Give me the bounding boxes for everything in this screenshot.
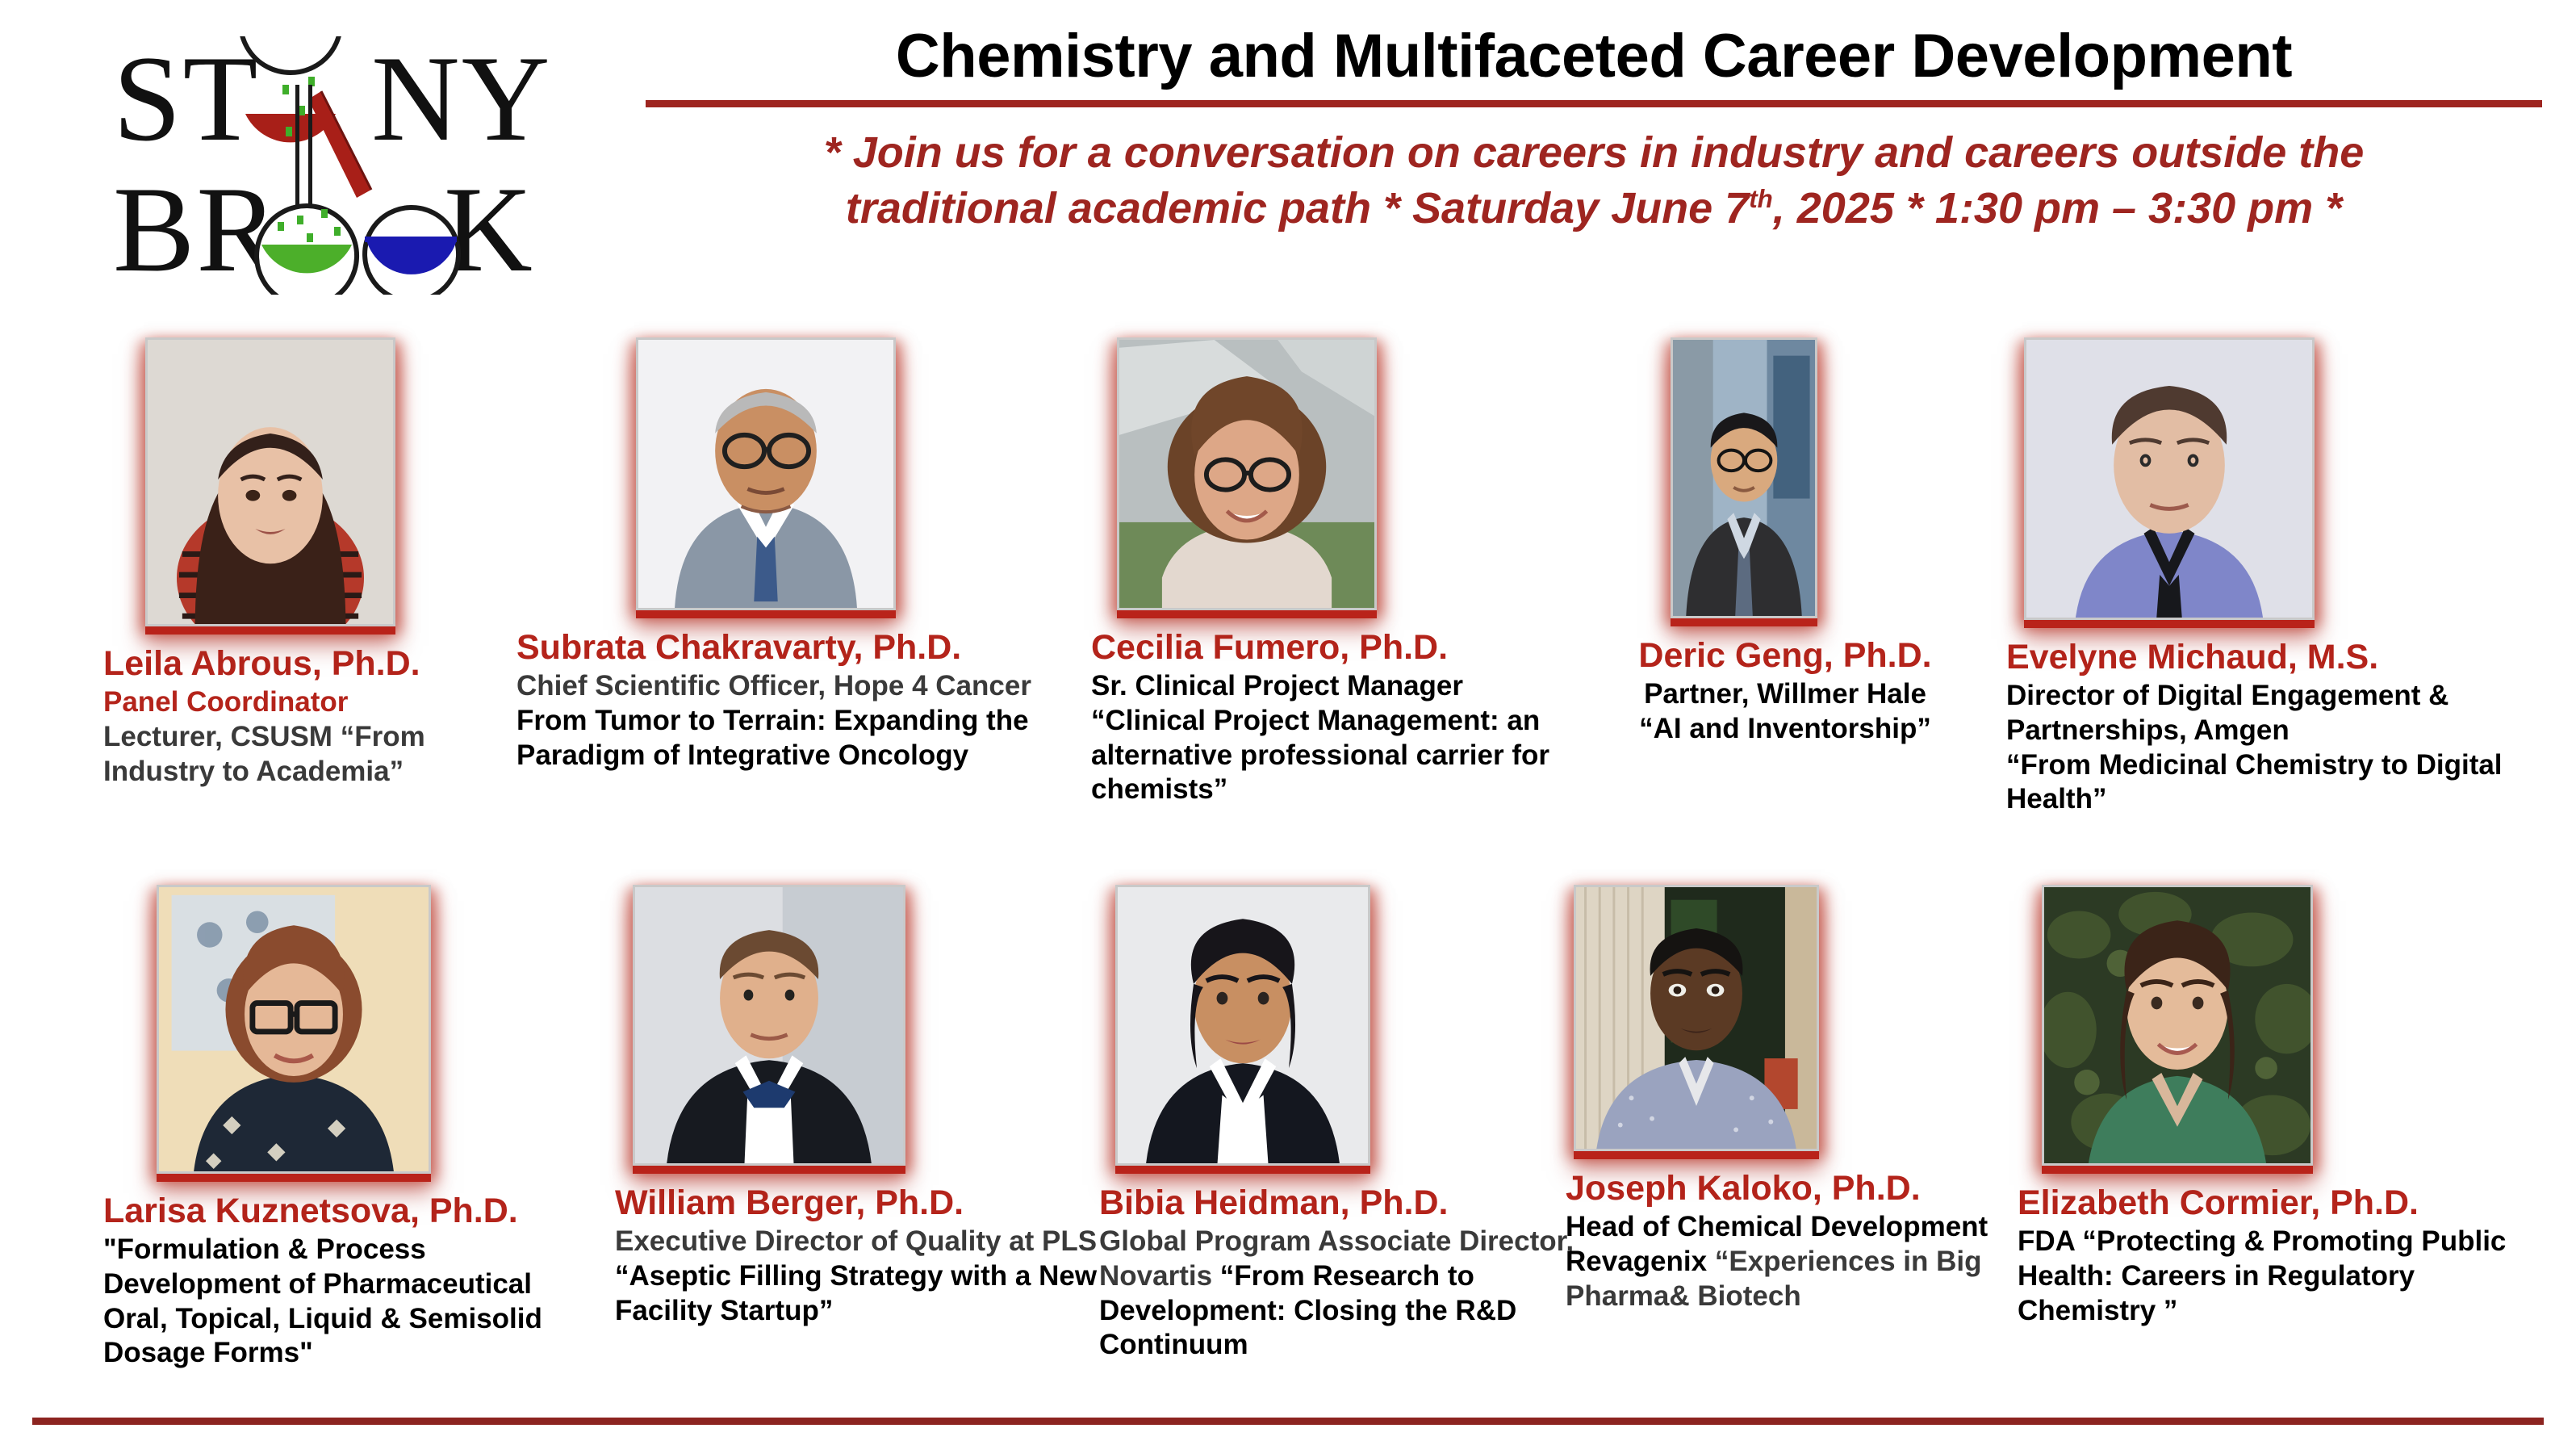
- portrait-elizabeth-cormier: [2042, 885, 2313, 1166]
- speaker-card[interactable]: Leila Abrous, Ph.D. Panel Coordinator Le…: [103, 337, 483, 790]
- svg-text:ST: ST: [113, 36, 259, 166]
- speaker-card[interactable]: Larisa Kuznetsova, Ph.D. "Formulation & …: [103, 885, 604, 1371]
- speaker-name: Evelyne Michaud, M.S.: [2006, 638, 2539, 676]
- header-text-block: Chemistry and Multifaceted Career Develo…: [646, 24, 2542, 237]
- speaker-caption: Joseph Kaloko, Ph.D. Head of Chemical De…: [1566, 1169, 2034, 1313]
- speaker-talk: “From Medicinal Chemistry to Digital Hea…: [2006, 748, 2539, 817]
- speaker-card[interactable]: Elizabeth Cormier, Ph.D. FDA “Protecting…: [2018, 885, 2550, 1328]
- speaker-caption: Bibia Heidman, Ph.D. Global Program Asso…: [1099, 1183, 1600, 1363]
- speaker-card[interactable]: Cecilia Fumero, Ph.D. Sr. Clinical Proje…: [1091, 337, 1575, 807]
- speaker-name: Bibia Heidman, Ph.D.: [1099, 1183, 1600, 1222]
- speaker-card[interactable]: Deric Geng, Ph.D. Partner, Willmer Hale …: [1575, 337, 1995, 747]
- speaker-talk: "Formulation & Process Development of Ph…: [103, 1233, 604, 1371]
- portrait-cecilia-fumero: [1117, 337, 1377, 610]
- speaker-caption: Evelyne Michaud, M.S. Director of Digita…: [2006, 638, 2539, 817]
- test-tube-icon: [295, 85, 312, 206]
- photo-frame: [615, 885, 1115, 1166]
- speaker-caption: Larisa Kuznetsova, Ph.D. "Formulation & …: [103, 1192, 604, 1371]
- speaker-card[interactable]: Evelyne Michaud, M.S. Director of Digita…: [2006, 337, 2539, 817]
- title-divider: [646, 100, 2542, 107]
- subtitle-line-2-pre: traditional academic path * Saturday Jun…: [846, 184, 1749, 232]
- speaker-affiliation: Partner, Willmer Hale: [1575, 677, 1995, 712]
- stony-brook-logo: ST NY BR K: [105, 36, 638, 295]
- photo-frame: [516, 337, 1081, 610]
- portrait-william-berger: [633, 885, 905, 1166]
- speaker-talk: “AI and Inventorship”: [1575, 712, 1995, 747]
- speaker-name: Subrata Chakravarty, Ph.D.: [516, 628, 1081, 667]
- subtitle-line-2-post: , 2025 * 1:30 pm – 3:30 pm *: [1773, 184, 2342, 232]
- speaker-caption: Deric Geng, Ph.D. Partner, Willmer Hale …: [1575, 636, 1995, 747]
- speaker-caption: Subrata Chakravarty, Ph.D. Chief Scienti…: [516, 628, 1081, 773]
- speaker-card[interactable]: Bibia Heidman, Ph.D. Global Program Asso…: [1099, 885, 1600, 1363]
- photo-frame: [2006, 337, 2539, 620]
- portrait-subrata-chakravarty: [636, 337, 896, 610]
- speaker-talk: “Clinical Project Management: an alterna…: [1091, 704, 1575, 807]
- subtitle-line-1: * Join us for a conversation on careers …: [824, 128, 2365, 177]
- photo-frame: [103, 885, 604, 1174]
- portrait-bibia-heidman: [1115, 885, 1370, 1166]
- portrait-larisa-kuznetsova: [157, 885, 431, 1174]
- speaker-affiliation: Executive Director of Quality at PLS “As…: [615, 1225, 1115, 1328]
- speaker-affiliation: FDA “Protecting & Promoting Public Healt…: [2018, 1225, 2550, 1328]
- page-title: Chemistry and Multifaceted Career Develo…: [646, 24, 2542, 100]
- speaker-name: Cecilia Fumero, Ph.D.: [1091, 628, 1575, 667]
- photo-frame: [1091, 337, 1575, 610]
- speaker-affiliation: Lecturer, CSUSM “From Industry to Academ…: [103, 720, 483, 789]
- portrait-evelyne-michaud: [2024, 337, 2315, 620]
- speaker-name: Elizabeth Cormier, Ph.D.: [2018, 1183, 2550, 1222]
- svg-text:K: K: [444, 161, 534, 295]
- portrait-deric-geng: [1671, 337, 1817, 618]
- photo-frame: [1099, 885, 1600, 1166]
- svg-text:BR: BR: [113, 161, 280, 295]
- speaker-caption: Leila Abrous, Ph.D. Panel Coordinator Le…: [103, 644, 483, 790]
- speaker-affiliation: Chief Scientific Officer, Hope 4 Cancer: [516, 669, 1081, 704]
- event-subtitle: * Join us for a conversation on careers …: [646, 125, 2542, 237]
- speaker-affiliation: Global Program Associate Director, Novar…: [1099, 1225, 1600, 1363]
- speaker-caption: Cecilia Fumero, Ph.D. Sr. Clinical Proje…: [1091, 628, 1575, 807]
- poster-header: ST NY BR K: [0, 0, 2576, 323]
- photo-frame: [1575, 337, 1995, 618]
- portrait-joseph-kaloko: [1574, 885, 1819, 1151]
- speaker-card[interactable]: Subrata Chakravarty, Ph.D. Chief Scienti…: [516, 337, 1081, 773]
- speaker-caption: Elizabeth Cormier, Ph.D. FDA “Protecting…: [2018, 1183, 2550, 1328]
- speaker-name: Deric Geng, Ph.D.: [1575, 636, 1995, 675]
- flask-blue-icon: [365, 207, 458, 295]
- subtitle-ordinal-suffix: th: [1749, 185, 1773, 213]
- flask-green-icon: [257, 206, 357, 295]
- speaker-name: Larisa Kuznetsova, Ph.D.: [103, 1192, 604, 1230]
- speaker-name: Joseph Kaloko, Ph.D.: [1566, 1169, 2034, 1208]
- speaker-card[interactable]: William Berger, Ph.D. Executive Director…: [615, 885, 1115, 1328]
- speaker-affiliation: Sr. Clinical Project Manager: [1091, 669, 1575, 704]
- speaker-caption: William Berger, Ph.D. Executive Director…: [615, 1183, 1115, 1328]
- speaker-name: William Berger, Ph.D.: [615, 1183, 1115, 1222]
- speaker-affiliation: Head of Chemical Development Revagenix “…: [1566, 1210, 2034, 1313]
- photo-frame: [2018, 885, 2550, 1166]
- photo-frame: [103, 337, 483, 626]
- speaker-card[interactable]: Joseph Kaloko, Ph.D. Head of Chemical De…: [1566, 885, 2034, 1313]
- photo-frame: [1566, 885, 2034, 1151]
- footer-divider: [32, 1418, 2544, 1425]
- speaker-name: Leila Abrous, Ph.D.: [103, 644, 483, 683]
- speaker-talk: From Tumor to Terrain: Expanding the Par…: [516, 704, 1081, 773]
- svg-text:NY: NY: [371, 36, 552, 166]
- speaker-affiliation: Director of Digital Engagement & Partner…: [2006, 679, 2539, 748]
- pipette-icon: [308, 91, 371, 198]
- speaker-role: Panel Coordinator: [103, 685, 483, 718]
- portrait-leila-abrous: [145, 337, 395, 626]
